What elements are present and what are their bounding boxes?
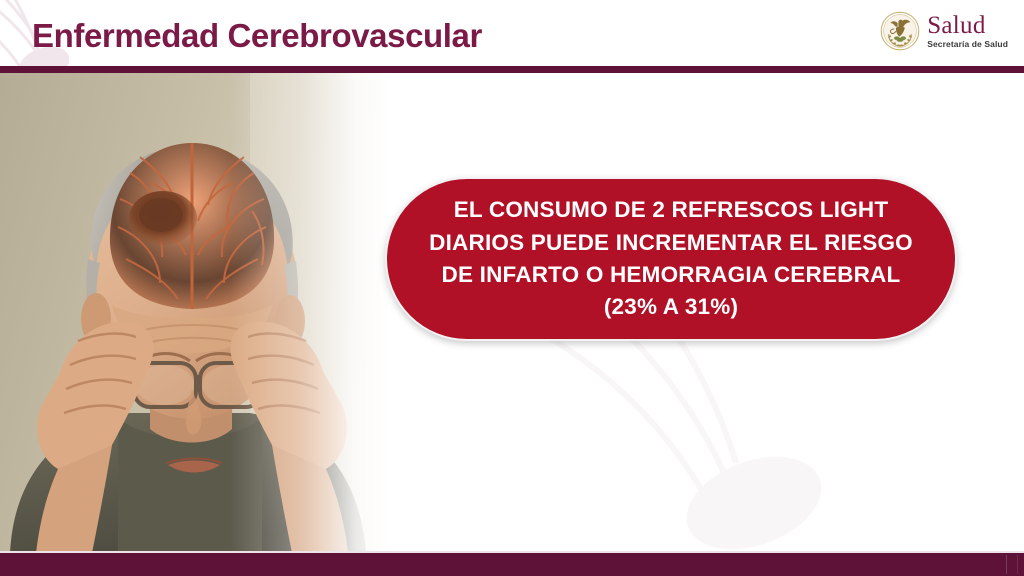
callout-banner: EL CONSUMO DE 2 REFRESCOS LIGHT DIARIOS … — [385, 177, 957, 341]
footer-bar — [0, 551, 1024, 576]
salud-logo: Salud Secretaría de Salud — [880, 11, 1008, 51]
page-title: Enfermedad Cerebrovascular — [32, 17, 482, 55]
logo-title: Salud — [927, 13, 1008, 38]
header-divider — [0, 66, 1024, 73]
logo-subtitle: Secretaría de Salud — [927, 40, 1008, 49]
logo-text-block: Salud Secretaría de Salud — [927, 13, 1008, 49]
header-bar: Enfermedad Cerebrovascular — [0, 0, 1024, 66]
photo-illustration — [0, 73, 400, 553]
content-area: EL CONSUMO DE 2 REFRESCOS LIGHT DIARIOS … — [0, 73, 1024, 553]
elderly-man-headache-photo — [0, 73, 400, 553]
slide-root: Enfermedad Cerebrovascular — [0, 0, 1024, 576]
callout-message: EL CONSUMO DE 2 REFRESCOS LIGHT DIARIOS … — [387, 194, 955, 324]
mexican-eagle-emblem-icon — [880, 11, 920, 51]
footer-corner-mark — [1006, 555, 1018, 574]
